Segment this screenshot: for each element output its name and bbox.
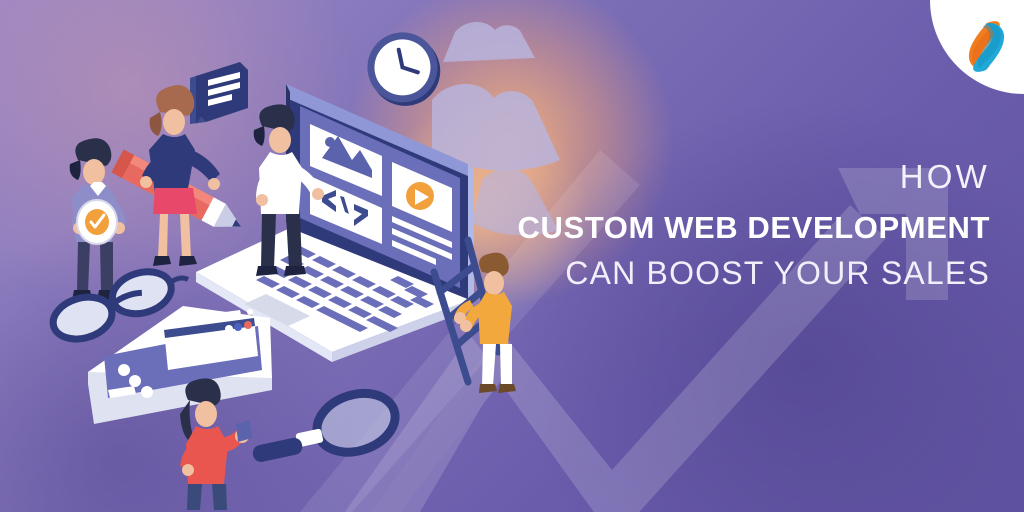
headline-line-1: HOW	[518, 160, 990, 193]
headline-block: HOW CUSTOM WEB DEVELOPMENT CAN BOOST YOU…	[518, 160, 990, 289]
headline-line-2: CUSTOM WEB DEVELOPMENT	[518, 212, 990, 243]
signity-logo[interactable]	[930, 0, 1024, 94]
headline-line-3: CAN BOOST YOUR SALES	[518, 257, 990, 289]
banner-root: HOW CUSTOM WEB DEVELOPMENT CAN BOOST YOU…	[0, 0, 1024, 512]
